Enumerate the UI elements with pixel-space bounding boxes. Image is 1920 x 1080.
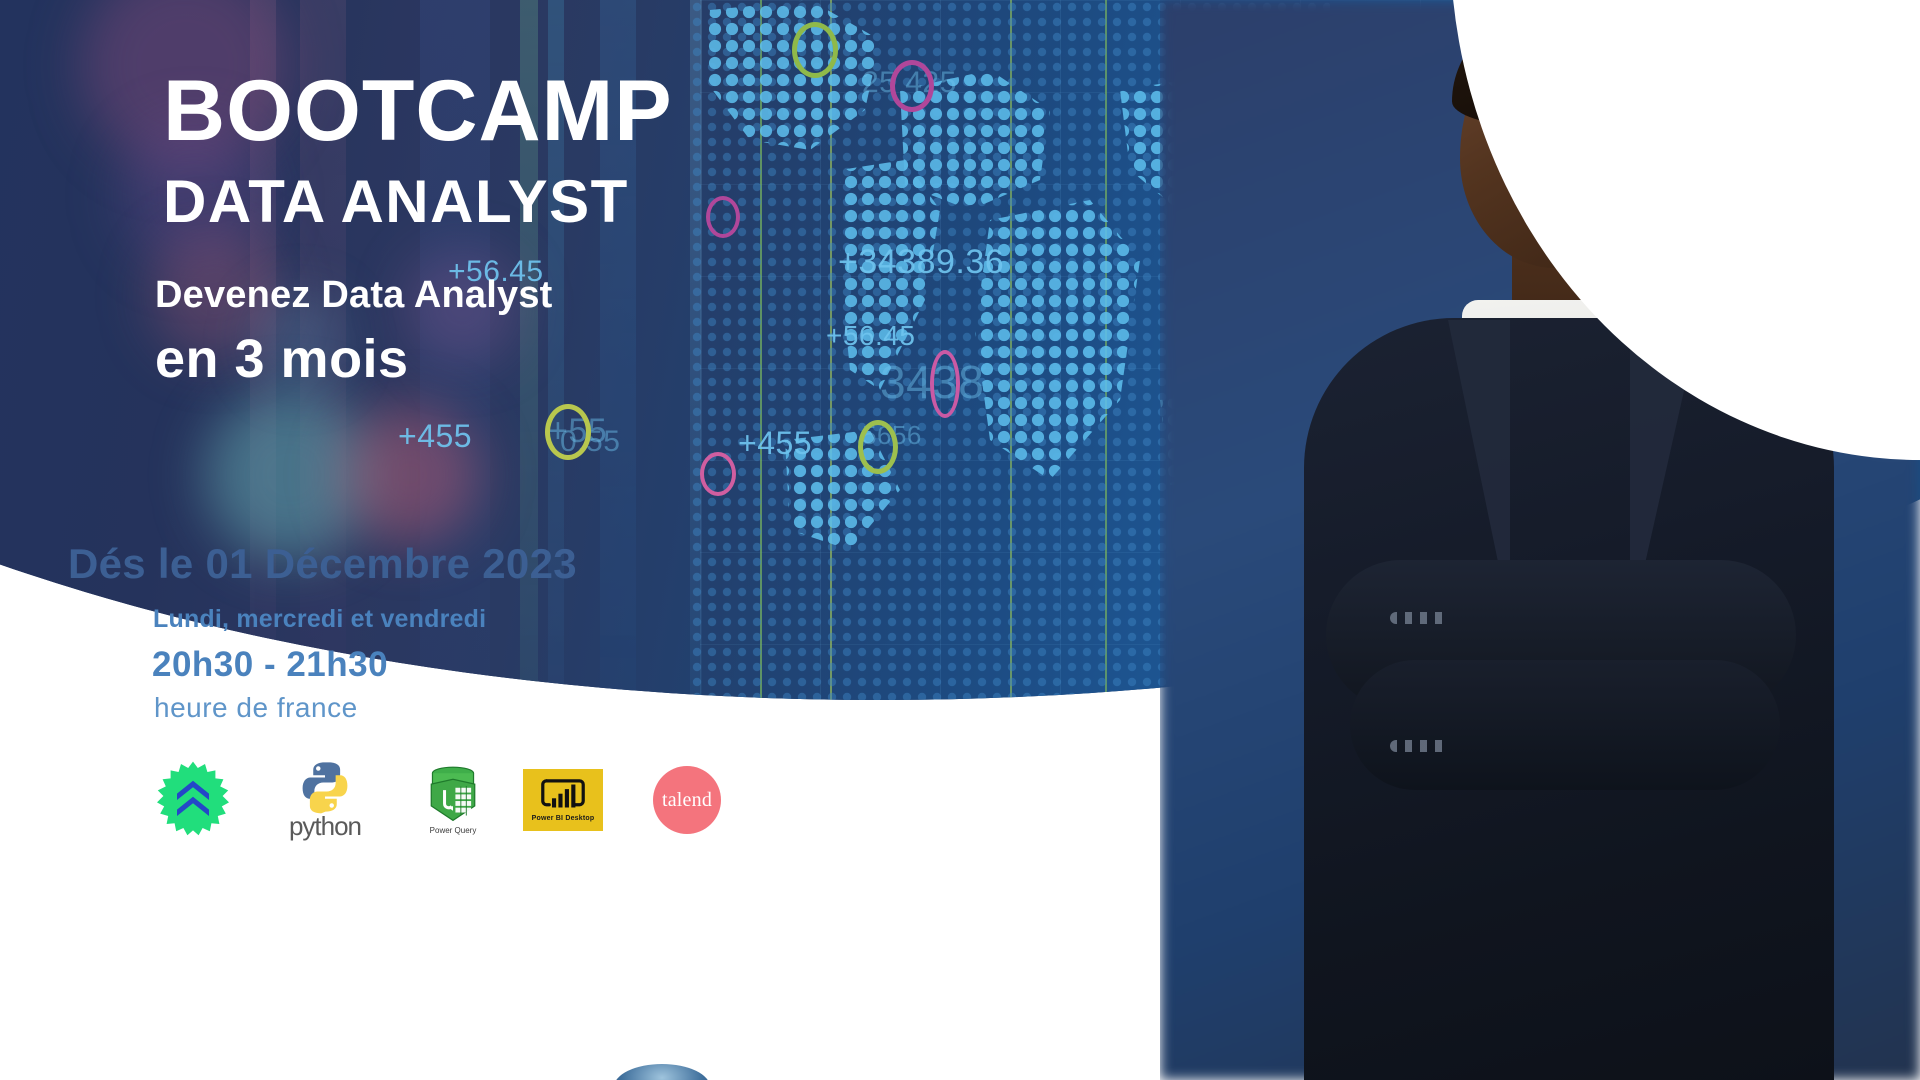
ring-marker (700, 452, 736, 496)
ticker-value: +455 (738, 425, 812, 462)
subhead-devenez: Devenez Data Analyst (155, 276, 553, 314)
figure-arm-lower (1350, 660, 1780, 790)
power-bi-label: Power BI Desktop (532, 815, 595, 822)
ticker-value: +455 (398, 418, 472, 455)
python-logo: python (275, 760, 375, 840)
start-date-text: Dés le 01 Décembre 2023 (68, 540, 577, 588)
headline-data-analyst: DATA ANALYST (163, 172, 629, 232)
figure-cuff-buttons (1390, 612, 1448, 624)
ticker-value: +34389.36 (838, 243, 1004, 282)
ring-marker (792, 22, 838, 78)
ring-marker (930, 350, 960, 418)
tool-logos-row: python (150, 760, 770, 850)
python-icon (297, 759, 353, 815)
class-time-text: 20h30 - 21h30 (152, 645, 388, 685)
excel-logo (150, 760, 236, 840)
headline-bootcamp: BOOTCAMP (163, 72, 673, 151)
ticker-value: +56.45 (826, 320, 915, 352)
figure-cuff-buttons (1390, 740, 1448, 752)
power-bi-tile: Power BI Desktop (523, 769, 603, 831)
subhead-en-3-mois: en 3 mois (155, 332, 409, 386)
ring-marker (890, 60, 934, 112)
promo-banner: 25 425+34389.363438+56.45+56.455656+455+… (0, 0, 1920, 1080)
ring-marker (545, 404, 591, 460)
power-bi-icon (540, 779, 586, 813)
class-days-text: Lundi, mercredi et vendredi (153, 605, 486, 634)
excel-icon (153, 760, 233, 840)
ring-marker (706, 196, 740, 238)
power-query-label: Power Query (430, 826, 477, 835)
partial-logo-bottom (614, 1064, 710, 1080)
power-query-logo: Power Query (410, 760, 496, 840)
python-label: python (289, 811, 361, 842)
ring-marker (858, 420, 898, 474)
talend-circle: talend (653, 766, 721, 834)
power-bi-logo: Power BI Desktop (520, 760, 606, 840)
power-query-icon (422, 766, 484, 824)
instructor-photo (1160, 0, 1920, 1080)
talend-logo: talend (650, 760, 724, 840)
talend-label: talend (662, 789, 712, 812)
timezone-text: heure de france (154, 692, 358, 724)
